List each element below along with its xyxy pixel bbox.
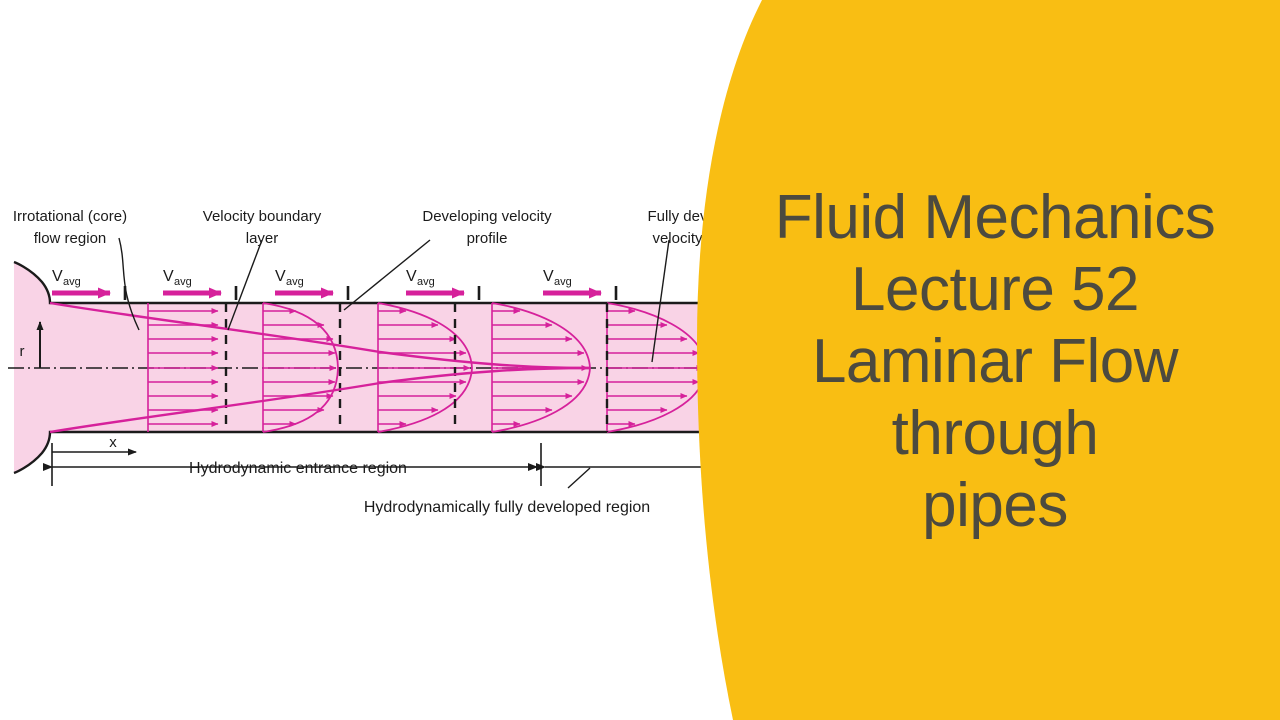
title-line-4: through [892, 399, 1099, 468]
title-line-5: pipes [922, 471, 1068, 540]
title-line-1: Fluid Mechanics [775, 183, 1215, 252]
title-line-2: Lecture 52 [851, 255, 1139, 324]
title-line-3: Laminar Flow [812, 327, 1179, 396]
slide-canvas: r [0, 0, 1280, 720]
title-panel: Fluid Mechanics Lecture 52 Laminar Flow … [0, 0, 1280, 720]
